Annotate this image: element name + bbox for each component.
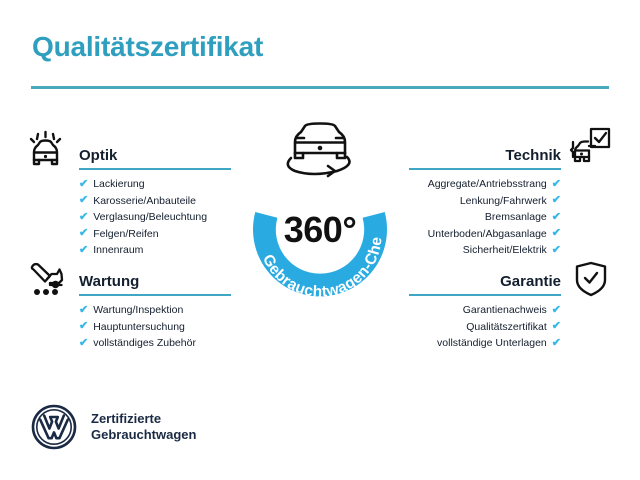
- check-icon: ✔: [552, 338, 561, 349]
- list-item-label: vollständiges Zubehör: [93, 335, 196, 352]
- list-item-label: Lackierung: [93, 176, 144, 193]
- list-item: Lenkung/Fahrwerk✔: [409, 193, 561, 210]
- list-item: ✔vollständiges Zubehör: [79, 335, 231, 352]
- section-technik-divider: [409, 168, 561, 170]
- check-icon: ✔: [79, 338, 88, 349]
- list-item: ✔Wartung/Inspektion: [79, 302, 231, 319]
- list-item-label: Sicherheit/Elektrik: [463, 242, 547, 259]
- list-item: Aggregate/Antriebsstrang✔: [409, 176, 561, 193]
- list-item-label: Felgen/Reifen: [93, 226, 158, 243]
- section-garantie: Garantie Garantienachweis✔ Qualitätszert…: [409, 266, 561, 352]
- list-item-label: Bremsanlage: [485, 209, 547, 226]
- section-wartung-list: ✔Wartung/Inspektion ✔Hauptuntersuchung ✔…: [79, 302, 231, 352]
- list-item: ✔Lackierung: [79, 176, 231, 193]
- list-item: ✔Hauptuntersuchung: [79, 319, 231, 336]
- section-technik-header: Technik: [409, 140, 561, 170]
- list-item-label: Innenraum: [93, 242, 143, 259]
- section-optik-header: Optik: [79, 140, 231, 170]
- section-wartung-divider: [79, 294, 231, 296]
- list-item: Garantienachweis✔: [409, 302, 561, 319]
- section-optik-divider: [79, 168, 231, 170]
- section-optik-heading: Optik: [79, 147, 117, 164]
- volkswagen-logo: [31, 404, 77, 450]
- list-item-label: Aggregate/Antriebsstrang: [428, 176, 547, 193]
- list-item-label: vollständige Unterlagen: [437, 335, 547, 352]
- check-icon: ✔: [79, 195, 88, 206]
- list-item-label: Wartung/Inspektion: [93, 302, 183, 319]
- check-icon: ✔: [552, 179, 561, 190]
- check-icon: ✔: [79, 212, 88, 223]
- certificate-page: Qualitätszertifikat Optik: [0, 0, 640, 480]
- section-garantie-divider: [409, 294, 561, 296]
- title-divider: [31, 86, 609, 89]
- check-icon: ✔: [552, 245, 561, 256]
- check-icon: ✔: [552, 195, 561, 206]
- list-item: ✔Verglasung/Beleuchtung: [79, 209, 231, 226]
- list-item: Unterboden/Abgasanlage✔: [409, 226, 561, 243]
- section-garantie-list: Garantienachweis✔ Qualitätszertifikat✔ v…: [409, 302, 561, 352]
- check-icon: ✔: [79, 228, 88, 239]
- section-technik-heading: Technik: [505, 147, 561, 164]
- list-item: ✔Felgen/Reifen: [79, 226, 231, 243]
- section-technik-list: Aggregate/Antriebsstrang✔ Lenkung/Fahrwe…: [409, 176, 561, 259]
- section-optik-list: ✔Lackierung ✔Karosserie/Anbauteile ✔Verg…: [79, 176, 231, 259]
- list-item-label: Lenkung/Fahrwerk: [460, 193, 547, 210]
- car-lift-check-icon: [567, 126, 615, 168]
- list-item: vollständige Unterlagen✔: [409, 335, 561, 352]
- check-icon: ✔: [552, 305, 561, 316]
- footer-brand: Zertifizierte Gebrauchtwagen: [31, 404, 196, 450]
- section-wartung-heading: Wartung: [79, 273, 139, 290]
- section-optik: Optik ✔Lackierung ✔Karosserie/Anbauteile…: [79, 140, 231, 259]
- list-item: ✔Karosserie/Anbauteile: [79, 193, 231, 210]
- shield-check-icon: [572, 259, 620, 301]
- list-item: Sicherheit/Elektrik✔: [409, 242, 561, 259]
- list-item: ✔Innenraum: [79, 242, 231, 259]
- list-item: Bremsanlage✔: [409, 209, 561, 226]
- check-icon: ✔: [79, 305, 88, 316]
- list-item-label: Karosserie/Anbauteile: [93, 193, 196, 210]
- car-rotate-icon: [277, 119, 363, 183]
- list-item: Qualitätszertifikat✔: [409, 319, 561, 336]
- check-icon: ✔: [79, 245, 88, 256]
- check-icon: ✔: [79, 321, 88, 332]
- check-icon: ✔: [552, 228, 561, 239]
- section-technik: Technik Aggregate/Antriebsstrang✔ Lenkun…: [409, 140, 561, 259]
- list-item-label: Verglasung/Beleuchtung: [93, 209, 207, 226]
- list-item-label: Garantienachweis: [463, 302, 547, 319]
- section-garantie-header: Garantie: [409, 266, 561, 296]
- list-item-label: Hauptuntersuchung: [93, 319, 185, 336]
- check-icon: ✔: [79, 179, 88, 190]
- footer-line-2: Gebrauchtwagen: [91, 427, 196, 443]
- car-shine-icon: [28, 130, 76, 172]
- check-icon: ✔: [552, 212, 561, 223]
- section-wartung-header: Wartung: [79, 266, 231, 296]
- check-icon: ✔: [552, 321, 561, 332]
- badge-center-value: 360°: [235, 212, 405, 248]
- section-wartung: Wartung ✔Wartung/Inspektion ✔Hauptunters…: [79, 266, 231, 352]
- list-item-label: Unterboden/Abgasanlage: [428, 226, 547, 243]
- page-title: Qualitätszertifikat: [32, 33, 263, 61]
- footer-brand-text: Zertifizierte Gebrauchtwagen: [91, 411, 196, 443]
- wrench-car-icon: [28, 259, 76, 301]
- footer-line-1: Zertifizierte: [91, 411, 196, 427]
- list-item-label: Qualitätszertifikat: [466, 319, 547, 336]
- section-garantie-heading: Garantie: [500, 273, 561, 290]
